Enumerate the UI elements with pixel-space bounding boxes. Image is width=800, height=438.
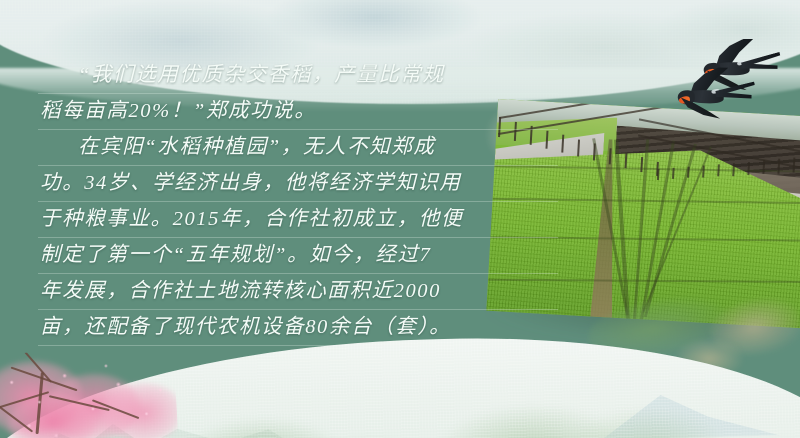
- fence-post: [593, 144, 596, 160]
- photo-right-fence: [633, 145, 800, 208]
- watercolor-mountain: [599, 386, 780, 438]
- text-line-content: “我们选用优质杂交香稻，产量比常规: [38, 65, 445, 86]
- fence-post: [748, 162, 750, 176]
- watercolor-tree: [560, 403, 732, 438]
- text-line: 稻每亩高20%！”郑成功说。: [38, 94, 558, 130]
- text-line: 在宾阳“水稻种植园”，无人不知郑成: [38, 130, 558, 166]
- fence-post: [609, 148, 612, 164]
- fence-post: [733, 163, 735, 176]
- slide-canvas: “我们选用优质杂交香稻，产量比常规 稻每亩高20%！”郑成功说。 在宾阳“水稻种…: [0, 0, 800, 438]
- text-line-content: 亩，还配备了现代农机设备80余台（套）。: [38, 317, 451, 338]
- fence-post: [672, 168, 674, 179]
- text-line-content: 制定了第一个“五年规划”。如今，经过7: [38, 245, 431, 266]
- text-line: 于种粮事业。2015年，合作社初成立，他便: [38, 202, 558, 238]
- cherry-blossom-decoration: [0, 345, 178, 438]
- fence-post: [657, 169, 659, 180]
- text-line: “我们选用优质杂交香稻，产量比常规: [38, 58, 558, 94]
- article-text-block: “我们选用优质杂交香稻，产量比常规 稻每亩高20%！”郑成功说。 在宾阳“水稻种…: [38, 58, 558, 346]
- text-line-content: 功。34岁、学经济出身，他将经济学知识用: [38, 173, 462, 194]
- fence-post: [625, 153, 628, 168]
- text-line-content: 稻每亩高20%！”郑成功说。: [38, 101, 316, 122]
- fence-post: [763, 160, 765, 174]
- fence-post: [703, 165, 705, 177]
- text-line-content: 于种粮事业。2015年，合作社初成立，他便: [38, 209, 463, 230]
- watercolor-tree: [170, 414, 352, 438]
- text-line-content: 年发展，合作社土地流转核心面积近2000: [38, 281, 441, 302]
- fence-post: [778, 159, 780, 174]
- fence-post: [561, 135, 564, 153]
- swallow-icon: [658, 71, 753, 129]
- text-line-content: 在宾阳“水稻种植园”，无人不知郑成: [38, 137, 436, 158]
- fence-post: [577, 139, 580, 156]
- watercolor-tree: [430, 400, 632, 438]
- watercolor-tree: [290, 433, 442, 438]
- blossom-petals: [0, 345, 178, 438]
- text-line: 功。34岁、学经济出身，他将经济学知识用: [38, 166, 558, 202]
- swallow-birds: [660, 46, 790, 142]
- fence-post: [718, 164, 720, 177]
- fence-post: [687, 167, 689, 179]
- text-line: 年发展，合作社土地流转核心面积近2000: [38, 274, 558, 310]
- text-line: 制定了第一个“五年规划”。如今，经过7: [38, 238, 558, 274]
